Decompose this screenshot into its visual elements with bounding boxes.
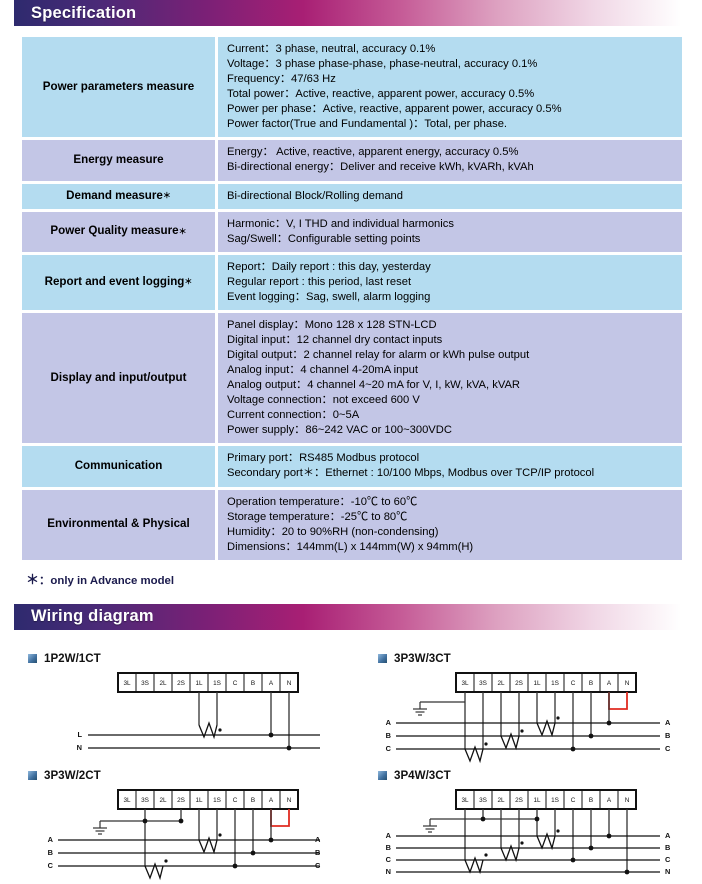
spec-value: Current：3 phase, neutral, accuracy 0.1% … [218, 37, 682, 137]
svg-text:1L: 1L [195, 797, 203, 804]
svg-text:3S: 3S [479, 797, 487, 804]
diagram-title: 3P3W/2CT [28, 769, 328, 782]
line-labels-left: ABC [48, 835, 54, 870]
diagram-title-text: 3P3W/3CT [394, 652, 451, 665]
spec-label-text: Display and input/output [51, 371, 187, 385]
spec-value: Bi-directional Block/Rolling demand [218, 184, 682, 209]
table-row: Energy measure Energy： Active, reactive,… [22, 140, 682, 180]
svg-text:N: N [386, 867, 391, 876]
line-labels-left: AB CN [386, 831, 392, 876]
diagram-3p3w-2ct: 3P3W/2CT 3L3S 2L2S 1L1S CB AN [28, 769, 328, 883]
spec-label-text: Report and event logging [45, 275, 185, 289]
svg-text:2L: 2L [159, 680, 167, 687]
svg-text:B: B [665, 731, 670, 740]
svg-text:A: A [269, 680, 274, 687]
svg-text:1L: 1L [533, 680, 541, 687]
spec-label: Environmental & Physical [22, 490, 215, 560]
svg-text:B: B [251, 680, 255, 687]
red-jumper [609, 701, 627, 709]
advance-model-marker: ＊ [163, 191, 171, 201]
spec-value: Harmonic：V, I THD and individual harmoni… [218, 212, 682, 252]
svg-text:A: A [269, 797, 274, 804]
svg-text:3S: 3S [141, 680, 149, 687]
svg-text:2S: 2S [177, 680, 185, 687]
svg-text:B: B [589, 797, 593, 804]
svg-text:N: N [287, 680, 292, 687]
svg-text:A: A [665, 831, 671, 840]
svg-text:3L: 3L [461, 680, 469, 687]
svg-text:C: C [233, 797, 238, 804]
svg-text:N: N [625, 797, 630, 804]
svg-text:B: B [589, 680, 593, 687]
diagram-title: 3P3W/3CT [378, 652, 678, 665]
svg-text:B: B [386, 731, 391, 740]
svg-text:C: C [386, 855, 392, 864]
spec-value: Report：Daily report : this day, yesterda… [218, 255, 682, 310]
svg-text:B: B [665, 843, 670, 852]
svg-text:2S: 2S [177, 797, 185, 804]
wiring-diagram-title: Wiring diagram [14, 607, 154, 626]
spec-label-text: Power Quality measure [50, 224, 178, 238]
table-row: Power Quality measure＊ Harmonic：V, I THD… [22, 212, 682, 252]
line-labels-left: ABC [386, 718, 392, 753]
table-row: Report and event logging＊ Report：Daily r… [22, 255, 682, 310]
svg-text:1S: 1S [551, 680, 559, 687]
svg-text:2L: 2L [497, 797, 505, 804]
footnote-star: ＊ [26, 572, 39, 587]
diagram-1p2w-1ct-svg: 3L3S 2L2S 1L1S CB AN [28, 671, 328, 766]
svg-text:1S: 1S [551, 797, 559, 804]
svg-text:A: A [607, 680, 612, 687]
footnote-text: ：only in Advance model [39, 575, 174, 587]
diagram-3p4w-3ct-svg: 3L3S 2L2S 1L1S CB AN [378, 788, 678, 883]
svg-text:B: B [315, 848, 320, 857]
table-row: Power parameters measure Current：3 phase… [22, 37, 682, 137]
diagram-title: 1P2W/1CT [28, 652, 328, 665]
svg-text:2S: 2S [515, 680, 523, 687]
spec-label-text: Communication [75, 459, 163, 473]
spec-label: Energy measure [22, 140, 215, 180]
line-labels-left: L N [77, 730, 83, 752]
svg-text:A: A [665, 718, 671, 727]
ground-symbol [93, 821, 145, 834]
bullet-icon [378, 771, 387, 780]
junction-dots [218, 728, 291, 750]
footnote: ＊：only in Advance model [26, 569, 702, 588]
bullet-icon [28, 654, 37, 663]
svg-text:N: N [625, 680, 630, 687]
spec-label-text: Demand measure [66, 189, 163, 203]
svg-text:A: A [315, 835, 321, 844]
svg-text:N: N [287, 797, 292, 804]
table-row: Communication Primary port：RS485 Modbus … [22, 446, 682, 486]
spec-value: Operation temperature：-10℃ to 60℃ Storag… [218, 490, 682, 560]
diagram-3p3w-3ct-svg: 3L3S 2L2S 1L1S CB AN [378, 671, 678, 766]
diagram-3p3w-2ct-svg: 3L3S 2L2S 1L1S CB AN [28, 788, 328, 883]
line-labels-right: AB CN [665, 831, 671, 876]
junction-dots [143, 818, 274, 868]
spec-label-text: Energy measure [73, 153, 163, 167]
diagram-title-text: 3P4W/3CT [394, 769, 451, 782]
diagram-title: 3P4W/3CT [378, 769, 678, 782]
svg-text:3L: 3L [123, 680, 131, 687]
spec-value: Primary port：RS485 Modbus protocol Secon… [218, 446, 682, 486]
svg-text:C: C [386, 744, 392, 753]
spec-label: Power parameters measure [22, 37, 215, 137]
wiring-diagram-header: Wiring diagram [14, 604, 702, 630]
spec-label-text: Power parameters measure [43, 80, 194, 94]
red-jumper [271, 818, 289, 826]
svg-text:2L: 2L [497, 680, 505, 687]
ground-symbol [413, 702, 465, 715]
svg-text:3L: 3L [123, 797, 131, 804]
svg-text:A: A [48, 835, 54, 844]
table-row: Environmental & Physical Operation tempe… [22, 490, 682, 560]
svg-text:3S: 3S [479, 680, 487, 687]
svg-text:N: N [77, 743, 82, 752]
svg-text:1S: 1S [213, 797, 221, 804]
svg-text:A: A [386, 831, 392, 840]
svg-text:N: N [665, 867, 670, 876]
spec-label: Power Quality measure＊ [22, 212, 215, 252]
specification-title: Specification [14, 4, 136, 23]
svg-text:1L: 1L [533, 797, 541, 804]
svg-text:A: A [386, 718, 392, 727]
svg-text:3S: 3S [141, 797, 149, 804]
svg-text:B: B [251, 797, 255, 804]
diagram-1p2w-1ct: 1P2W/1CT 3L3S 2L2S 1L1S CB AN [28, 652, 328, 766]
advance-model-marker: ＊ [184, 277, 192, 287]
table-row: Display and input/output Panel display：M… [22, 313, 682, 444]
svg-text:A: A [607, 797, 612, 804]
svg-text:2L: 2L [159, 797, 167, 804]
svg-text:3L: 3L [461, 797, 469, 804]
ground-symbol [423, 819, 483, 832]
specification-table: Power parameters measure Current：3 phase… [22, 37, 682, 560]
specification-header: Specification [14, 0, 702, 26]
svg-text:C: C [315, 861, 321, 870]
advance-model-marker: ＊ [179, 227, 187, 237]
diagram-title-text: 3P3W/2CT [44, 769, 101, 782]
svg-text:1S: 1S [213, 680, 221, 687]
diagram-3p3w-3ct: 3P3W/3CT 3L3S 2L2S 1L1S CB AN [378, 652, 678, 766]
table-row: Demand measure＊ Bi-directional Block/Rol… [22, 184, 682, 209]
svg-text:C: C [665, 855, 671, 864]
svg-text:C: C [233, 680, 238, 687]
spec-label: Report and event logging＊ [22, 255, 215, 310]
svg-text:C: C [665, 744, 671, 753]
spec-label-text: Environmental & Physical [47, 517, 189, 531]
spec-label: Display and input/output [22, 313, 215, 444]
line-labels-right: ABC [665, 718, 671, 753]
svg-text:L: L [77, 730, 82, 739]
svg-text:1L: 1L [195, 680, 203, 687]
svg-text:2S: 2S [515, 797, 523, 804]
bullet-icon [28, 771, 37, 780]
diagram-3p4w-3ct: 3P4W/3CT 3L3S 2L2S 1L1S CB AN [378, 769, 678, 883]
spec-value: Energy： Active, reactive, apparent energ… [218, 140, 682, 180]
svg-text:B: B [386, 843, 391, 852]
spec-value: Panel display：Mono 128 x 128 STN-LCD Dig… [218, 313, 682, 444]
wiring-diagrams-container: 1P2W/1CT 3L3S 2L2S 1L1S CB AN [0, 644, 702, 884]
svg-text:B: B [48, 848, 53, 857]
svg-text:C: C [48, 861, 54, 870]
diagram-title-text: 1P2W/1CT [44, 652, 101, 665]
spec-label: Demand measure＊ [22, 184, 215, 209]
svg-text:C: C [571, 797, 576, 804]
spec-label: Communication [22, 446, 215, 486]
line-labels-right: ABC [315, 835, 321, 870]
svg-text:C: C [571, 680, 576, 687]
bullet-icon [378, 654, 387, 663]
